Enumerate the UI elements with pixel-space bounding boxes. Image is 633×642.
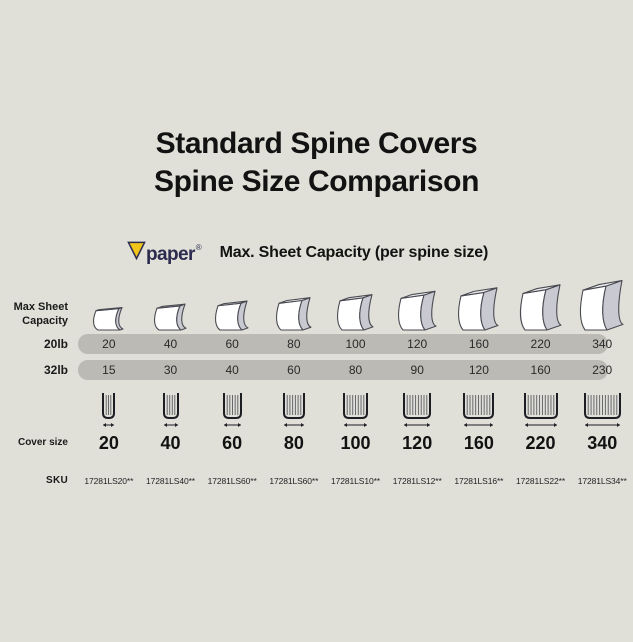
capacity-cell-20lb: 100	[325, 334, 387, 354]
cover-size-cell: 20	[78, 430, 140, 456]
spine-icon-cell	[201, 388, 263, 428]
capacity-cell-32lb: 80	[325, 360, 387, 380]
sku-row: SKU 17281LS20**17281LS40**17281LS60**172…	[0, 470, 633, 492]
cover-size-cell: 160	[448, 430, 510, 456]
spine-icon-cell	[78, 388, 140, 428]
cover-size-row: Cover size 20406080100120160220340	[0, 430, 633, 456]
paper-stack-cell	[140, 276, 202, 332]
spine-icon-cell	[140, 388, 202, 428]
sku-cell: 17281LS16**	[448, 470, 510, 492]
capacity-cell-20lb: 120	[386, 334, 448, 354]
max-sheet-capacity-label-line1: Max Sheet	[0, 300, 68, 314]
spine-cross-section-icon	[277, 388, 311, 428]
paper-stack-icon	[453, 276, 504, 332]
spine-icon-cell	[325, 388, 387, 428]
capacity-cell-32lb: 230	[571, 360, 633, 380]
spine-icon-cell	[263, 388, 325, 428]
capacity-cell-32lb: 40	[201, 360, 263, 380]
title-line-2: Spine Size Comparison	[0, 163, 633, 201]
spine-cross-section-icon	[457, 388, 500, 428]
capacity-cell-32lb: 60	[263, 360, 325, 380]
spine-icon-cell	[571, 388, 633, 428]
paper-stack-icon	[393, 276, 442, 332]
sku-cell: 17281LS22**	[510, 470, 572, 492]
paper-stack-cell	[510, 276, 572, 332]
paper-stack-icon	[332, 276, 379, 332]
paper-stack-icon	[575, 276, 629, 332]
weight-label-32lb: 32lb	[0, 363, 78, 377]
capacity-cell-32lb: 30	[140, 360, 202, 380]
capacity-cell-32lb: 120	[448, 360, 510, 380]
spine-cross-section-icon	[397, 388, 437, 428]
capacity-cell-20lb: 340	[571, 334, 633, 354]
capacity-cell-20lb: 80	[263, 334, 325, 354]
cover-size-cell: 100	[325, 430, 387, 456]
spine-cross-section-icon	[96, 388, 121, 428]
paper-stack-cell	[386, 276, 448, 332]
paper-stack-icon-row: Max Sheet Capacity	[0, 276, 633, 332]
sku-cell: 17281LS12**	[386, 470, 448, 492]
capacity-cell-20lb: 160	[448, 334, 510, 354]
weight-label-20lb: 20lb	[0, 337, 78, 351]
cover-size-cell: 120	[386, 430, 448, 456]
paper-stack-icon	[149, 276, 192, 332]
logo-wordmark: paper	[146, 245, 195, 264]
cover-size-cell: 340	[571, 430, 633, 456]
sku-cell: 17281LS20**	[78, 470, 140, 492]
capacity-cell-20lb: 60	[201, 334, 263, 354]
spine-cross-section-icon	[578, 388, 627, 428]
paper-stack-cell	[325, 276, 387, 332]
cover-size-cell: 60	[201, 430, 263, 456]
capacity-cell-32lb: 160	[510, 360, 572, 380]
registered-mark: ®	[196, 241, 202, 253]
subhead-row: paper ® Max. Sheet Capacity (per spine s…	[127, 241, 488, 264]
page-title: Standard Spine Covers Spine Size Compari…	[0, 125, 633, 201]
paper-stack-icon	[271, 276, 317, 332]
spine-cross-section-icon	[157, 388, 185, 428]
capacity-cell-20lb: 220	[510, 334, 572, 354]
sku-cell: 17281LS60**	[201, 470, 263, 492]
paper-stack-icon	[515, 276, 567, 332]
spine-size-comparison-infographic: Standard Spine Covers Spine Size Compari…	[0, 0, 633, 642]
paper-stack-cell	[78, 276, 140, 332]
v-mark-icon	[127, 241, 146, 260]
cover-size-cell: 220	[510, 430, 572, 456]
paper-stack-icon	[210, 276, 254, 332]
capacity-cell-20lb: 20	[78, 334, 140, 354]
spine-cross-section-icon	[337, 388, 374, 428]
cover-size-label: Cover size	[0, 436, 78, 450]
paper-stack-cell	[201, 276, 263, 332]
sku-cell: 17281LS60**	[263, 470, 325, 492]
weight-row-32lb: 32lb 153040608090120160230	[0, 360, 633, 380]
max-sheet-capacity-label-line2: Capacity	[0, 314, 68, 328]
paper-stack-icon	[88, 276, 129, 332]
spine-cross-section-icon	[518, 388, 564, 428]
weight-row-20lb: 20lb 20406080100120160220340	[0, 334, 633, 354]
sku-cell: 17281LS10**	[325, 470, 387, 492]
sku-cell: 17281LS34**	[571, 470, 633, 492]
spine-cross-section-icon	[217, 388, 248, 428]
capacity-cell-20lb: 40	[140, 334, 202, 354]
title-line-1: Standard Spine Covers	[0, 125, 633, 163]
paper-stack-cell	[263, 276, 325, 332]
capacity-cell-32lb: 90	[386, 360, 448, 380]
paper-stack-cell	[571, 276, 633, 332]
max-sheet-capacity-label: Max Sheet Capacity	[0, 300, 78, 332]
sku-label: SKU	[0, 474, 78, 488]
sku-cell: 17281LS40**	[140, 470, 202, 492]
capacity-cell-32lb: 15	[78, 360, 140, 380]
spine-icon-cell	[510, 388, 572, 428]
spine-icon-cell	[386, 388, 448, 428]
cover-size-cell: 40	[140, 430, 202, 456]
vpaper-logo: paper ®	[127, 241, 202, 264]
cover-size-cell: 80	[263, 430, 325, 456]
spine-icon-cell	[448, 388, 510, 428]
subhead-text: Max. Sheet Capacity (per spine size)	[220, 244, 488, 262]
paper-stack-cell	[448, 276, 510, 332]
spine-icon-row	[0, 388, 633, 428]
